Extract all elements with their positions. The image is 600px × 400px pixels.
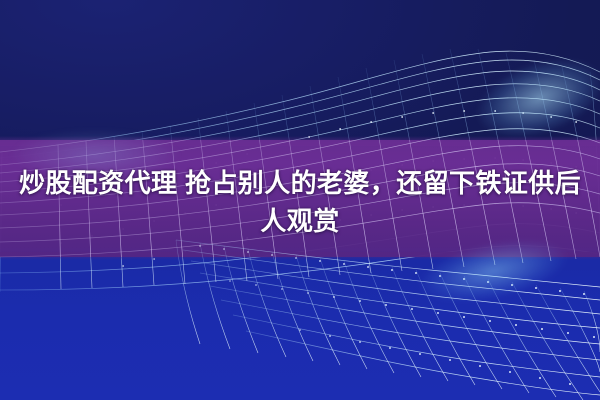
headline-line-2: 人观赏 [6,202,594,240]
banner-image: 炒股配资代理 抢占别人的老婆，还留下铁证供后 人观赏 [0,0,600,400]
page-title: 炒股配资代理 抢占别人的老婆，还留下铁证供后 人观赏 [0,164,600,240]
headline-line-1: 炒股配资代理 抢占别人的老婆，还留下铁证供后 [6,164,594,202]
